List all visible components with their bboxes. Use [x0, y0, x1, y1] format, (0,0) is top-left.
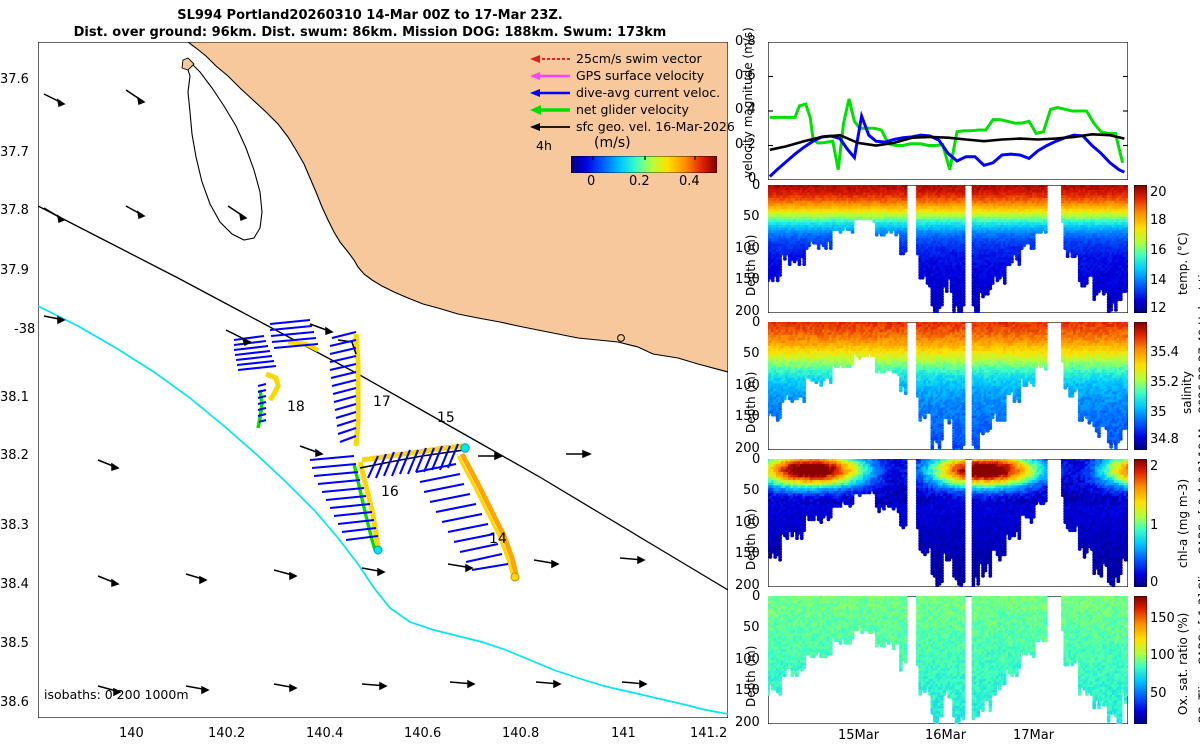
- temp-cbtick-3: 18: [1150, 213, 1167, 228]
- legend-colorbar-tick-2: 0.4: [679, 174, 700, 189]
- oxy-ytick-3: 150: [735, 683, 760, 698]
- legend-interval-label: 4h: [536, 138, 552, 153]
- chlorophyll-section-canvas[interactable]: [768, 459, 1128, 587]
- oxy-cbtick-2: 150: [1150, 611, 1175, 626]
- section-xtick-0: 15Mar: [838, 728, 879, 743]
- legend-label-net: net glider velocity: [576, 102, 689, 117]
- sal-cbtick-2: 35.2: [1150, 375, 1179, 390]
- chl-ytick-3: 150: [735, 546, 760, 561]
- chl-ytick-1: 50: [743, 483, 760, 498]
- temp-cbtick-1: 14: [1150, 273, 1167, 288]
- velocity-timeseries-canvas[interactable]: [768, 42, 1128, 180]
- oxy-cbtick-0: 50: [1150, 686, 1167, 701]
- chl-ytick-0: 0: [752, 452, 760, 467]
- dive-15-surfacing-point: [461, 444, 469, 452]
- map-xtick-6: 141.2: [690, 726, 727, 741]
- legend-colorbar[interactable]: [571, 156, 717, 173]
- salinity-section-canvas[interactable]: [768, 322, 1128, 450]
- legend-label-swim: 25cm/s swim vector: [576, 51, 702, 66]
- oxy-cbtick-1: 100: [1150, 648, 1175, 663]
- map-ytick-8: 38.4: [0, 577, 29, 592]
- net-glider-velocity-arrow-icon: [528, 102, 572, 118]
- salinity-colorbar-label: salinity: [1180, 371, 1194, 414]
- map-ytick-3: 37.9: [0, 263, 29, 278]
- sal-ytick-2: 100: [735, 378, 760, 393]
- velocity-ytick-1: 0.2: [735, 137, 756, 152]
- section-xtick-2: 17Mar: [1013, 728, 1054, 743]
- sal-cbtick-3: 35.4: [1150, 345, 1179, 360]
- oxy-ytick-4: 200: [735, 715, 760, 730]
- chl-cbtick-0: 0: [1150, 575, 1158, 590]
- oxygen-section-panel[interactable]: [768, 596, 1128, 724]
- map-xtick-4: 140.8: [502, 726, 539, 741]
- temperature-section-canvas[interactable]: [768, 185, 1128, 313]
- velocity-ytick-3: 0.6: [735, 68, 756, 83]
- velocity-timeseries-panel[interactable]: [768, 42, 1128, 180]
- map-ytick-1: 37.7: [0, 145, 29, 160]
- chlorophyll-section-panel[interactable]: [768, 459, 1128, 587]
- temperature-colorbar-label: temp. (°C): [1176, 232, 1190, 295]
- sal-ytick-3: 150: [735, 409, 760, 424]
- temp-ytick-2: 100: [735, 241, 760, 256]
- legend-label-gps: GPS surface velocity: [576, 68, 704, 83]
- page-title-line1: SL994 Portland20260310 14-Mar 00Z to 17-…: [0, 8, 740, 23]
- legend-label-sfcgeo: sfc geo. vel. 16-Mar-2026: [576, 119, 735, 134]
- legend-colorbar-tick-1: 0.2: [629, 174, 650, 189]
- gps-velocity-arrow-icon: [528, 68, 572, 84]
- dive-label-16: 16: [381, 484, 399, 500]
- map-ytick-10: 38.6: [0, 695, 29, 710]
- sal-ytick-0: 0: [752, 315, 760, 330]
- salinity-colorbar[interactable]: [1134, 322, 1147, 450]
- dive-label-17: 17: [373, 394, 391, 410]
- temp-cbtick-2: 16: [1150, 243, 1167, 258]
- map-ytick-0: 37.6: [0, 72, 29, 87]
- temperature-colorbar[interactable]: [1134, 185, 1147, 313]
- dive-14-surfacing-point: [511, 573, 519, 581]
- dive-label-18: 18: [287, 399, 305, 415]
- oxygen-colorbar-label: Ox. sat. ratio (%): [1176, 613, 1190, 715]
- salinity-section-panel[interactable]: [768, 322, 1128, 450]
- oxy-ytick-0: 0: [752, 589, 760, 604]
- offshore-island: [618, 335, 625, 342]
- dive-16-surfacing-point: [374, 546, 382, 554]
- map-ytick-2: 37.8: [0, 203, 29, 218]
- map-ytick-6: 38.2: [0, 448, 29, 463]
- page-title-line2: Dist. over ground: 96km. Dist. swum: 86k…: [0, 25, 740, 40]
- temp-cbtick-0: 12: [1150, 301, 1167, 316]
- legend-colorbar-title: (m/s): [594, 135, 631, 151]
- temp-ytick-3: 150: [735, 272, 760, 287]
- dive-label-15: 15: [437, 410, 455, 426]
- chl-cbtick-2: 2: [1150, 459, 1158, 474]
- legend-label-dac: dive-avg current veloc.: [576, 85, 720, 100]
- swim-vector-arrow-icon: [528, 51, 572, 67]
- temperature-section-panel[interactable]: [768, 185, 1128, 313]
- chl-cbtick-1: 1: [1150, 518, 1158, 533]
- temp-cbtick-4: 20: [1150, 185, 1167, 200]
- oxygen-colorbar[interactable]: [1134, 596, 1147, 724]
- sal-cbtick-1: 35: [1150, 405, 1167, 420]
- map-ytick-9: 38.5: [0, 636, 29, 651]
- sfc-geo-velocity-arrow-icon: [528, 119, 572, 135]
- map-legend[interactable]: 25cm/s swim vector GPS surface velocity …: [528, 50, 728, 185]
- isobath-note: isobaths: 0 200 1000m: [44, 687, 189, 702]
- oxygen-section-canvas[interactable]: [768, 596, 1128, 724]
- dive-label-14: 14: [489, 531, 507, 547]
- velocity-ytick-2: 0.4: [735, 102, 756, 117]
- map-xtick-1: 140.2: [208, 726, 245, 741]
- chlorophyll-colorbar[interactable]: [1134, 459, 1147, 587]
- legend-colorbar-tick-0: 0: [587, 174, 595, 189]
- sal-ytick-1: 50: [743, 346, 760, 361]
- map-ytick-7: 38.3: [0, 518, 29, 533]
- map-ytick-5: 38.1: [0, 390, 29, 405]
- map-xtick-0: 140: [119, 726, 144, 741]
- oxy-ytick-2: 100: [735, 652, 760, 667]
- dive-17-swim-band: [356, 334, 358, 446]
- processing-note: no QC. Tlim=CARS+[-1 3] Slim=CARS+[-0.4 …: [1196, 256, 1200, 742]
- map-xtick-3: 140.6: [404, 726, 441, 741]
- chl-ytick-2: 100: [735, 515, 760, 530]
- velocity-ytick-4: 0.8: [735, 34, 756, 49]
- dive-avg-current-arrow-icon: [528, 85, 572, 101]
- temp-ytick-1: 50: [743, 209, 760, 224]
- map-xtick-5: 141: [611, 726, 636, 741]
- map-ytick-4: -38: [14, 322, 35, 337]
- map-xtick-2: 140.4: [306, 726, 343, 741]
- chlorophyll-colorbar-label: chl-a (mg m-3): [1176, 479, 1190, 568]
- temp-ytick-0: 0: [752, 178, 760, 193]
- section-xtick-1: 16Mar: [925, 728, 966, 743]
- sal-cbtick-0: 34.8: [1150, 432, 1179, 447]
- oxy-ytick-1: 50: [743, 620, 760, 635]
